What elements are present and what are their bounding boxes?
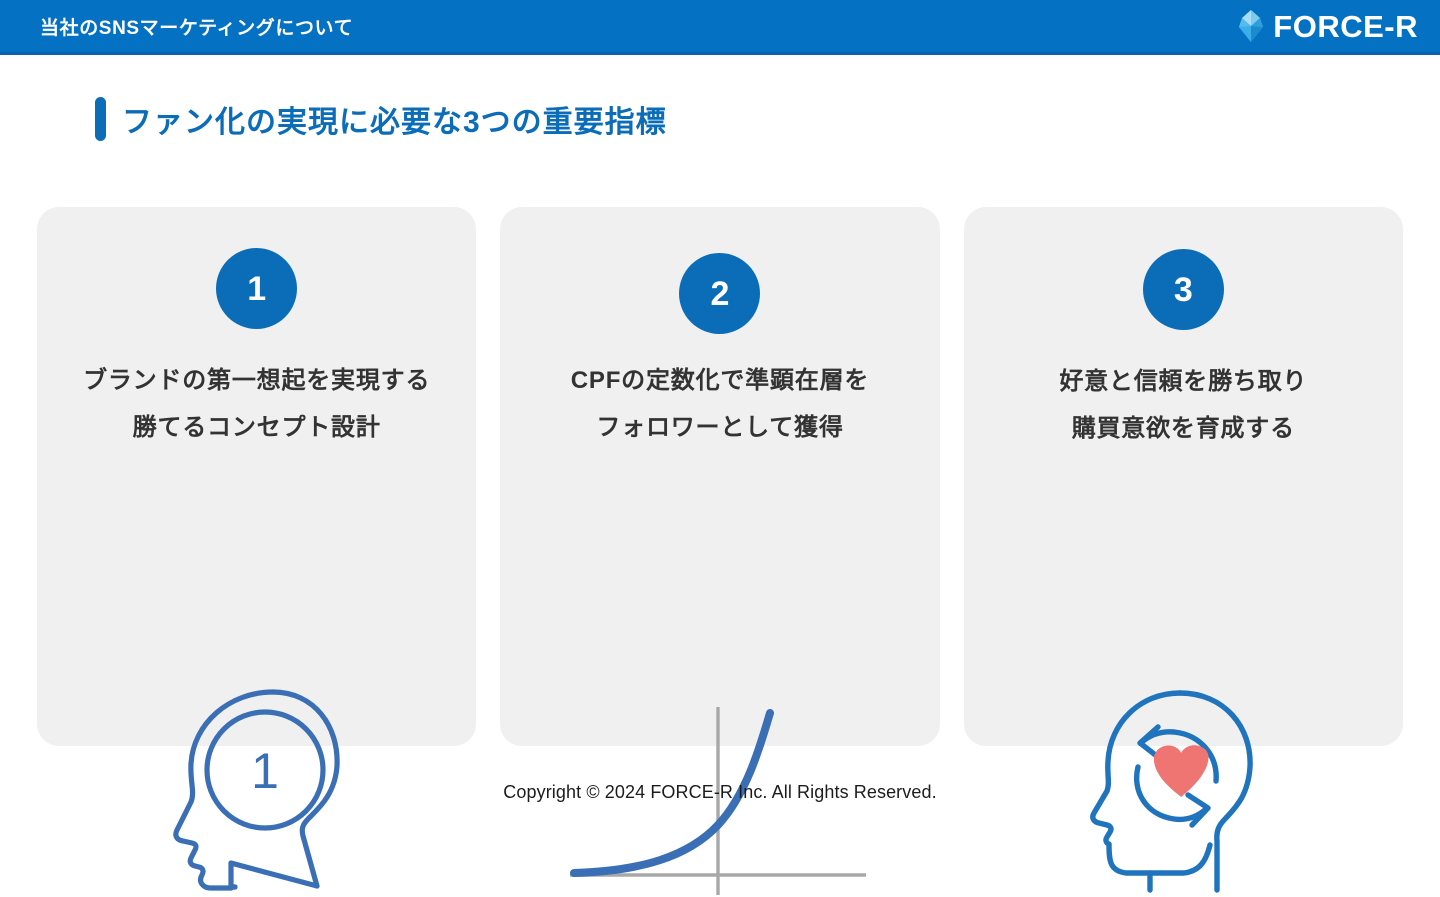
card-heading-line2: 購買意欲を育成する	[1059, 406, 1307, 453]
page-header: 当社のSNSマーケティングについて FORCE-R	[0, 0, 1440, 55]
card-heading: ブランドの第一想起を実現する 勝てるコンセプト設計	[83, 358, 430, 452]
page-title: 当社のSNSマーケティングについて	[40, 13, 353, 40]
card-number-badge: 1	[216, 248, 297, 329]
card-heading-line1: CPFの定数化で準顕在層を	[571, 358, 869, 405]
card-number-badge: 2	[679, 253, 760, 334]
card-heading-line1: ブランドの第一想起を実現する	[83, 358, 430, 405]
brand-name: FORCE-R	[1273, 11, 1418, 42]
section-title: ファン化の実現に必要な3つの重要指標	[122, 97, 667, 141]
card-number-badge: 3	[1143, 249, 1224, 330]
card-grid: 1 ブランドの第一想起を実現する 勝てるコンセプト設計 1	[37, 207, 1403, 746]
card-heading: CPFの定数化で準顕在層を フォロワーとして獲得	[571, 358, 869, 452]
metric-card-3[interactable]: 3 好意と信頼を勝ち取り 購買意欲を育成する	[964, 207, 1403, 746]
card-heading-line2: 勝てるコンセプト設計	[83, 405, 430, 452]
card-heading-line2: フォロワーとして獲得	[571, 405, 869, 452]
card-heading: 好意と信頼を勝ち取り 購買意欲を育成する	[1059, 359, 1307, 453]
card-heading-line1: 好意と信頼を勝ち取り	[1059, 359, 1307, 406]
footer-copyright: Copyright © 2024 FORCE-R Inc. All Rights…	[0, 782, 1440, 803]
section-heading: ファン化の実現に必要な3つの重要指標	[95, 97, 667, 141]
brand-logo: FORCE-R	[1238, 10, 1418, 42]
metric-card-1[interactable]: 1 ブランドの第一想起を実現する 勝てるコンセプト設計 1	[37, 207, 476, 746]
accent-bar	[95, 97, 106, 141]
metric-card-2[interactable]: 2 CPFの定数化で準顕在層を フォロワーとして獲得	[500, 207, 939, 746]
crystal-gem-icon	[1238, 10, 1264, 42]
